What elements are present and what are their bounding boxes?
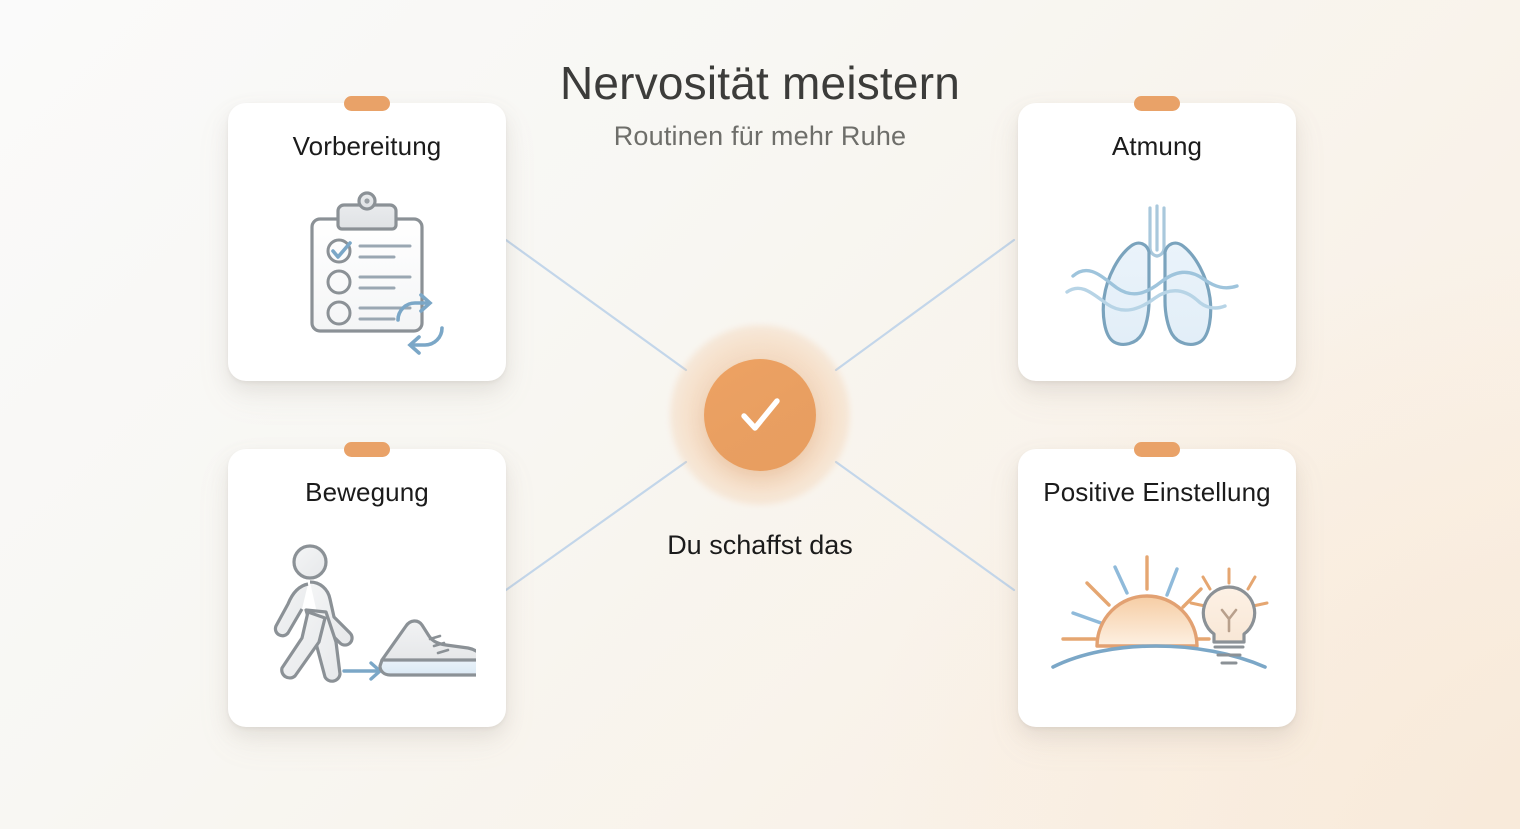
- card-tab: [344, 442, 390, 457]
- connector-hub-atmung: [836, 240, 1014, 370]
- card-positive-einstellung[interactable]: Positive Einstellung: [1018, 449, 1296, 727]
- walking-person-sneaker-icon: [228, 521, 506, 719]
- hub-caption: Du schaffst das: [660, 528, 860, 562]
- hub-circle[interactable]: [704, 359, 816, 471]
- connector-hub-vorbereitung: [506, 240, 686, 370]
- card-atmung[interactable]: Atmung: [1018, 103, 1296, 381]
- connector-hub-positive: [836, 462, 1014, 590]
- card-title-bewegung: Bewegung: [228, 475, 506, 509]
- check-icon: [729, 384, 791, 446]
- sunrise-lightbulb-icon: [1018, 521, 1296, 719]
- clipboard-checklist-icon: [228, 175, 506, 373]
- card-title-atmung: Atmung: [1018, 129, 1296, 163]
- infographic-canvas: Nervosität meistern Routinen für mehr Ru…: [0, 0, 1520, 829]
- card-tab: [1134, 442, 1180, 457]
- card-title-vorbereitung: Vorbereitung: [228, 129, 506, 163]
- card-tab: [1134, 96, 1180, 111]
- lungs-breathing-icon: [1018, 175, 1296, 373]
- card-bewegung[interactable]: Bewegung: [228, 449, 506, 727]
- card-tab: [344, 96, 390, 111]
- connector-hub-bewegung: [506, 462, 686, 590]
- center-hub[interactable]: Du schaffst das: [660, 315, 860, 515]
- card-title-positive: Positive Einstellung: [1018, 475, 1296, 509]
- card-vorbereitung[interactable]: Vorbereitung: [228, 103, 506, 381]
